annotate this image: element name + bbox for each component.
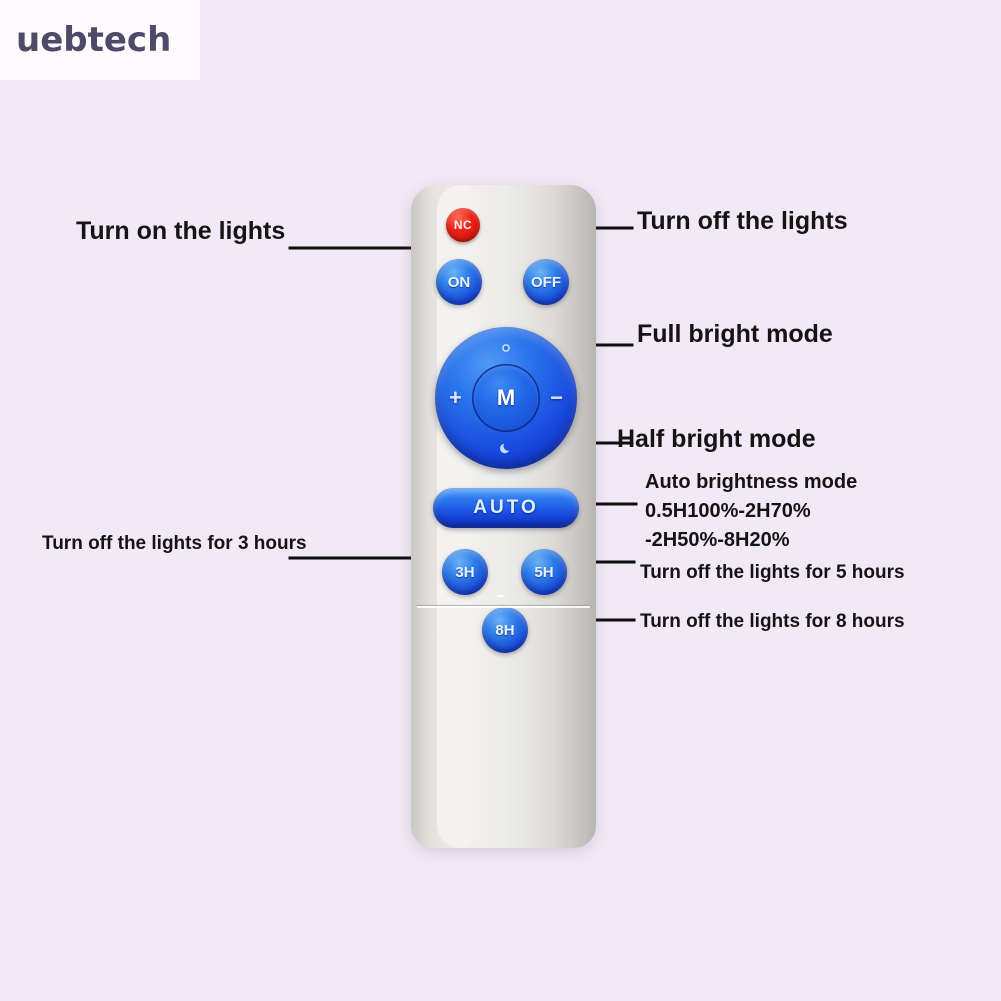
moon-icon[interactable]	[497, 439, 515, 457]
annotation-half-bright: Half bright mode	[617, 424, 816, 455]
annotation-turn-on: Turn on the lights	[76, 216, 285, 247]
on-label: ON	[448, 274, 471, 291]
increase-brightness-label[interactable]: +	[449, 387, 462, 409]
timer-8h-button[interactable]: 8H	[482, 607, 528, 653]
sun-icon[interactable]	[497, 339, 515, 357]
nc-label: NC	[454, 218, 472, 232]
decrease-brightness-label[interactable]: −	[550, 387, 563, 409]
timer-5h-button[interactable]: 5H	[521, 549, 567, 595]
auto-button[interactable]: AUTO	[433, 488, 579, 528]
auto-label: AUTO	[473, 497, 538, 519]
timer-3h-label: 3H	[455, 564, 474, 581]
annotation-timer-5h: Turn off the lights for 5 hours	[640, 561, 905, 584]
annotation-auto-line2: 0.5H100%-2H70%	[645, 499, 811, 523]
annotation-timer-3h: Turn off the lights for 3 hours	[42, 532, 307, 555]
off-label: OFF	[531, 274, 561, 291]
brightness-control-pad[interactable]: + M −	[435, 327, 577, 469]
annotation-auto-line3: -2H50%-8H20%	[645, 528, 790, 552]
annotation-timer-8h: Turn off the lights for 8 hours	[640, 610, 905, 633]
infographic-canvas: NC ON OFF + M −	[0, 0, 1001, 1001]
timer-3h-button[interactable]: 3H	[442, 549, 488, 595]
nc-indicator-button[interactable]: NC	[446, 208, 480, 242]
watermark-badge: uebtech	[0, 0, 200, 80]
annotation-auto-line1: Auto brightness mode	[645, 470, 857, 494]
mode-button[interactable]: M	[472, 364, 540, 432]
watermark-text: uebtech	[0, 23, 171, 57]
off-button[interactable]: OFF	[523, 259, 569, 305]
on-button[interactable]: ON	[436, 259, 482, 305]
mode-label: M	[497, 385, 515, 411]
remote-control-body: NC ON OFF + M −	[411, 185, 596, 848]
timer-5h-label: 5H	[534, 564, 553, 581]
annotation-full-bright: Full bright mode	[637, 319, 833, 350]
timer-8h-label: 8H	[495, 622, 514, 639]
annotation-turn-off: Turn off the lights	[637, 206, 848, 237]
